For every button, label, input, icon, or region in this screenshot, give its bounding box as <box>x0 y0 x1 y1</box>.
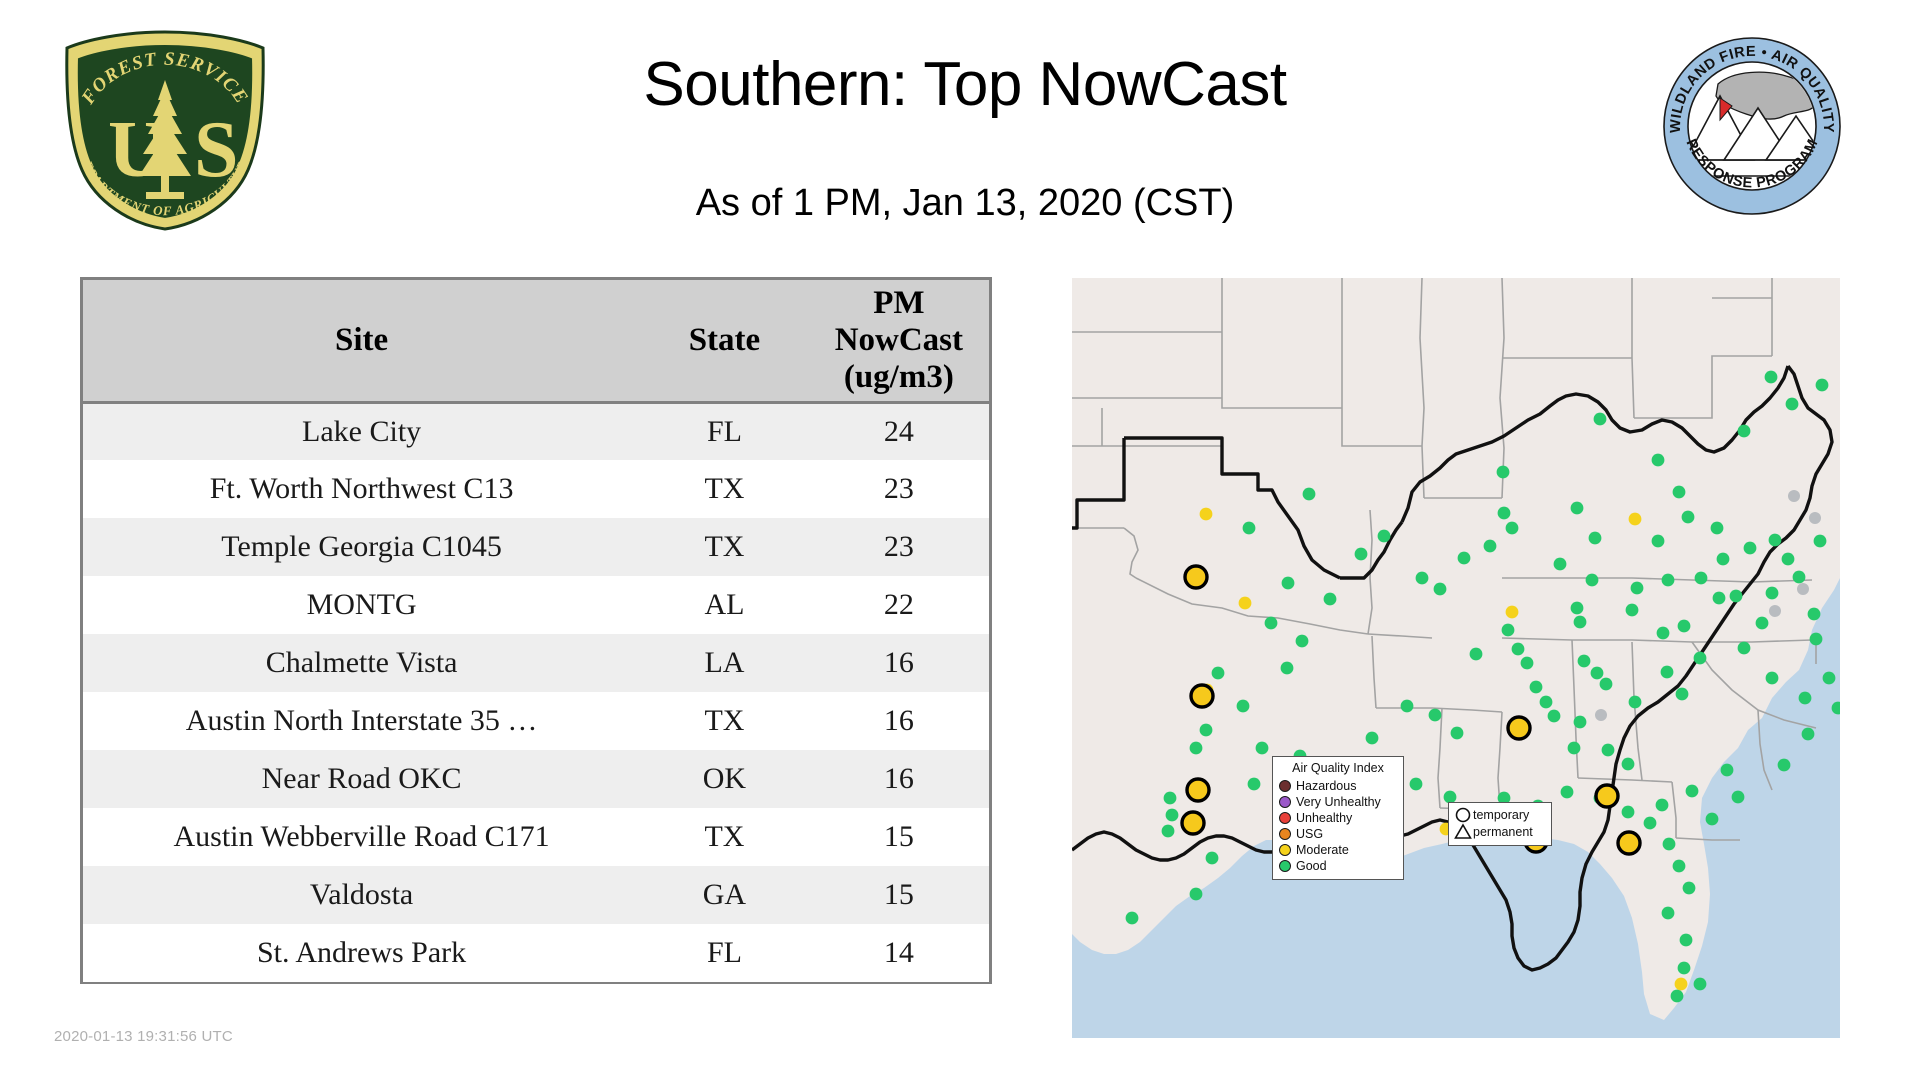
map-marker-good <box>1683 882 1696 895</box>
map-marker-good <box>1793 571 1806 584</box>
map-marker-good <box>1243 522 1256 535</box>
map-marker-good <box>1561 786 1574 799</box>
map-marker-good <box>1652 454 1665 467</box>
map-marker-good <box>1695 572 1708 585</box>
page-title: Southern: Top NowCast <box>300 52 1630 117</box>
cell-state: GA <box>640 866 809 924</box>
map-marker-good <box>1212 667 1225 680</box>
legend-item-very-unhealthy: Very Unhealthy <box>1279 794 1397 810</box>
map-marker-good <box>1355 548 1368 561</box>
column-header-site: Site <box>83 280 640 402</box>
cell-state: LA <box>640 634 809 692</box>
map-marker-moderate <box>1200 508 1213 521</box>
map-marker-good <box>1816 379 1829 392</box>
map-marker-good <box>1686 785 1699 798</box>
permanent-monitor-triangle-icon <box>1456 825 1471 838</box>
cell-site: Near Road OKC <box>83 750 640 808</box>
cell-state: TX <box>640 460 809 518</box>
map-marker-good <box>1782 553 1795 566</box>
map-marker-good <box>1594 413 1607 426</box>
map-marker-good <box>1663 838 1676 851</box>
map-marker-moderate <box>1239 597 1252 610</box>
legend-label-very-unhealthy: Very Unhealthy <box>1296 794 1381 810</box>
map-marker-good <box>1164 792 1177 805</box>
cell-value: 24 <box>809 402 989 460</box>
map-marker-good <box>1506 522 1519 535</box>
map-marker-good <box>1190 888 1203 901</box>
table-header-row: Site State PM NowCast (ug/m3) <box>83 280 989 402</box>
usda-forest-service-logo: FOREST SERVICE U S DEPARTMENT OF AGRICUL… <box>58 28 273 233</box>
map-marker-good <box>1574 716 1587 729</box>
cell-value: 16 <box>809 692 989 750</box>
map-marker-good <box>1502 624 1515 637</box>
cell-value: 15 <box>809 866 989 924</box>
map-marker-missing <box>1769 605 1781 617</box>
table-row: Austin North Interstate 35 … TX 16 <box>83 692 989 750</box>
map-marker-good <box>1732 791 1745 804</box>
map-marker-good <box>1366 732 1379 745</box>
map-marker-good <box>1126 912 1139 925</box>
map-marker-good <box>1248 778 1261 791</box>
map-marker-good <box>1512 643 1525 656</box>
map-marker-good <box>1568 742 1581 755</box>
map-marker-good <box>1190 742 1203 755</box>
map-marker-good <box>1766 587 1779 600</box>
map-marker-good <box>1303 488 1316 501</box>
map-marker-good <box>1296 635 1309 648</box>
cell-value: 14 <box>809 924 989 982</box>
map-marker-good <box>1571 502 1584 515</box>
table-row: Near Road OKC OK 16 <box>83 750 989 808</box>
map-marker-good <box>1738 425 1751 438</box>
map-marker-good <box>1451 727 1464 740</box>
cell-state: TX <box>640 518 809 576</box>
map-marker-good <box>1662 574 1675 587</box>
map-marker-good <box>1678 962 1691 975</box>
map-marker-good <box>1256 742 1269 755</box>
map-marker-good <box>1730 590 1743 603</box>
map-marker-good <box>1652 535 1665 548</box>
map-marker-good <box>1661 666 1674 679</box>
map-marker-good <box>1766 672 1779 685</box>
table-body: Lake City FL 24 Ft. Worth Northwest C13 … <box>83 402 989 982</box>
map-marker-good <box>1578 655 1591 668</box>
map-canvas <box>1072 278 1840 1038</box>
table-row: MONTG AL 22 <box>83 576 989 634</box>
cell-value: 16 <box>809 750 989 808</box>
map-marker-good <box>1282 577 1295 590</box>
monitor-type-labels: temporary permanent <box>1473 807 1533 841</box>
legend-label-moderate: Moderate <box>1296 842 1349 858</box>
map-marker-top-site[interactable] <box>1187 779 1209 801</box>
map-marker-good <box>1676 688 1689 701</box>
legend-label-good: Good <box>1296 858 1327 874</box>
map-marker-good <box>1673 486 1686 499</box>
cell-value: 23 <box>809 460 989 518</box>
table-row: Ft. Worth Northwest C13 TX 23 <box>83 460 989 518</box>
map-marker-missing <box>1788 490 1800 502</box>
table-row: Temple Georgia C1045 TX 23 <box>83 518 989 576</box>
map-marker-top-site[interactable] <box>1191 685 1213 707</box>
map-marker-good <box>1662 907 1675 920</box>
cell-state: TX <box>640 692 809 750</box>
map-marker-good <box>1429 709 1442 722</box>
legend-title: Air Quality Index <box>1279 761 1397 775</box>
map-marker-good <box>1434 583 1447 596</box>
map-marker-good <box>1756 617 1769 630</box>
map-marker-good <box>1738 642 1751 655</box>
legend-swatch-hazardous <box>1279 780 1291 792</box>
map-marker-good <box>1810 633 1823 646</box>
cell-value: 16 <box>809 634 989 692</box>
map-marker-good <box>1401 700 1414 713</box>
map-marker-good <box>1721 764 1734 777</box>
map-marker-good <box>1540 696 1553 709</box>
map-marker-good <box>1631 582 1644 595</box>
map-marker-good <box>1591 667 1604 680</box>
map-marker-good <box>1574 616 1587 629</box>
map-marker-good <box>1571 602 1584 615</box>
cell-site: Chalmette Vista <box>83 634 640 692</box>
map-marker-moderate <box>1675 978 1688 991</box>
legend-swatch-unhealthy <box>1279 812 1291 824</box>
cell-value: 15 <box>809 808 989 866</box>
map-marker-good <box>1694 652 1707 665</box>
map-marker-good <box>1378 530 1391 543</box>
legend-label-unhealthy: Unhealthy <box>1296 810 1352 826</box>
map-marker-good <box>1656 799 1669 812</box>
table-row: Chalmette Vista LA 16 <box>83 634 989 692</box>
map-marker-good <box>1622 758 1635 771</box>
map-marker-top-site[interactable] <box>1508 717 1530 739</box>
map-marker-good <box>1324 593 1337 606</box>
cell-site: MONTG <box>83 576 640 634</box>
cell-site: Austin North Interstate 35 … <box>83 692 640 750</box>
map-marker-good <box>1823 672 1836 685</box>
map-marker-good <box>1554 558 1567 571</box>
map-marker-good <box>1600 678 1613 691</box>
map-marker-missing <box>1809 512 1821 524</box>
map-marker-good <box>1265 617 1278 630</box>
air-quality-map[interactable] <box>1072 278 1840 1038</box>
monitor-type-legend: temporary permanent <box>1448 802 1552 846</box>
legend-label-usg: USG <box>1296 826 1323 842</box>
footer-timestamp: 2020-01-13 19:31:56 UTC <box>54 1028 233 1045</box>
legend-swatch-moderate <box>1279 844 1291 856</box>
map-marker-good <box>1713 592 1726 605</box>
legend-swatch-very-unhealthy <box>1279 796 1291 808</box>
map-marker-good <box>1626 604 1639 617</box>
cell-state: FL <box>640 402 809 460</box>
map-marker-good <box>1786 398 1799 411</box>
slide-root: FOREST SERVICE U S DEPARTMENT OF AGRICUL… <box>0 0 1920 1080</box>
cell-site: Austin Webberville Road C171 <box>83 808 640 866</box>
map-marker-missing <box>1797 583 1809 595</box>
page-subtitle: As of 1 PM, Jan 13, 2020 (CST) <box>300 182 1630 225</box>
map-marker-good <box>1162 825 1175 838</box>
map-marker-moderate <box>1506 606 1519 619</box>
map-marker-good <box>1694 978 1707 991</box>
temporary-monitor-circle-icon <box>1457 809 1470 822</box>
map-marker-good <box>1657 627 1670 640</box>
map-marker-good <box>1470 648 1483 661</box>
cell-state: TX <box>640 808 809 866</box>
cell-value: 23 <box>809 518 989 576</box>
map-marker-good <box>1200 724 1213 737</box>
map-marker-good <box>1808 608 1821 621</box>
map-marker-moderate <box>1629 513 1642 526</box>
cell-site: Ft. Worth Northwest C13 <box>83 460 640 518</box>
map-marker-good <box>1706 813 1719 826</box>
map-marker-good <box>1765 371 1778 384</box>
legend-swatch-good <box>1279 860 1291 872</box>
map-marker-good <box>1814 535 1827 548</box>
table-row: Valdosta GA 15 <box>83 866 989 924</box>
map-marker-good <box>1586 574 1599 587</box>
map-marker-good <box>1629 696 1642 709</box>
map-marker-good <box>1530 681 1543 694</box>
map-marker-good <box>1602 744 1615 757</box>
map-marker-top-site[interactable] <box>1618 832 1640 854</box>
map-marker-good <box>1711 522 1724 535</box>
legend-item-unhealthy: Unhealthy <box>1279 810 1397 826</box>
map-marker-good <box>1281 662 1294 675</box>
map-marker-good <box>1548 710 1561 723</box>
map-marker-good <box>1497 466 1510 479</box>
map-marker-good <box>1458 552 1471 565</box>
cell-site: Valdosta <box>83 866 640 924</box>
column-header-state: State <box>640 280 809 402</box>
legend-item-moderate: Moderate <box>1279 842 1397 858</box>
map-marker-good <box>1237 700 1250 713</box>
wildland-fire-air-quality-logo: WILDLAND FIRE • AIR QUALITY RESPONSE PRO… <box>1662 36 1842 216</box>
map-marker-good <box>1673 860 1686 873</box>
map-marker-good <box>1778 759 1791 772</box>
map-marker-top-site[interactable] <box>1596 785 1618 807</box>
map-marker-good <box>1680 934 1693 947</box>
column-header-pm-nowcast: PM NowCast (ug/m3) <box>809 280 989 402</box>
map-marker-good <box>1671 990 1684 1003</box>
map-marker-missing <box>1595 709 1607 721</box>
label-permanent: permanent <box>1473 824 1533 841</box>
cell-site: Lake City <box>83 402 640 460</box>
legend-swatch-usg <box>1279 828 1291 840</box>
legend-label-hazardous: Hazardous <box>1296 778 1356 794</box>
map-marker-good <box>1166 809 1179 822</box>
table-row: Lake City FL 24 <box>83 402 989 460</box>
air-quality-index-legend: Air Quality Index Hazardous Very Unhealt… <box>1272 756 1404 880</box>
legend-item-good: Good <box>1279 858 1397 874</box>
map-marker-top-site[interactable] <box>1185 566 1207 588</box>
map-marker-good <box>1521 657 1534 670</box>
map-marker-good <box>1802 728 1815 741</box>
top-nowcast-table: Site State PM NowCast (ug/m3) Lake City … <box>80 277 992 984</box>
map-marker-good <box>1498 507 1511 520</box>
cell-site: Temple Georgia C1045 <box>83 518 640 576</box>
forest-service-shield-icon: FOREST SERVICE U S DEPARTMENT OF AGRICUL… <box>58 28 273 233</box>
legend-item-usg: USG <box>1279 826 1397 842</box>
map-marker-good <box>1799 692 1812 705</box>
map-marker-good <box>1484 540 1497 553</box>
table-row: Austin Webberville Road C171 TX 15 <box>83 808 989 866</box>
table-row: St. Andrews Park FL 14 <box>83 924 989 982</box>
monitor-type-glyphs <box>1453 804 1473 844</box>
cell-state: OK <box>640 750 809 808</box>
map-marker-good <box>1678 620 1691 633</box>
cell-state: FL <box>640 924 809 982</box>
map-marker-good <box>1410 778 1423 791</box>
map-marker-good <box>1622 806 1635 819</box>
label-temporary: temporary <box>1473 807 1533 824</box>
map-marker-good <box>1744 542 1757 555</box>
cell-value: 22 <box>809 576 989 634</box>
map-marker-top-site[interactable] <box>1182 812 1204 834</box>
legend-item-hazardous: Hazardous <box>1279 778 1397 794</box>
map-marker-good <box>1206 852 1219 865</box>
map-marker-good <box>1682 511 1695 524</box>
map-marker-good <box>1416 572 1429 585</box>
cell-state: AL <box>640 576 809 634</box>
wfaqrp-seal-icon: WILDLAND FIRE • AIR QUALITY RESPONSE PRO… <box>1662 36 1842 216</box>
map-marker-good <box>1589 532 1602 545</box>
cell-site: St. Andrews Park <box>83 924 640 982</box>
map-marker-good <box>1644 817 1657 830</box>
map-marker-good <box>1717 553 1730 566</box>
map-marker-good <box>1769 534 1782 547</box>
